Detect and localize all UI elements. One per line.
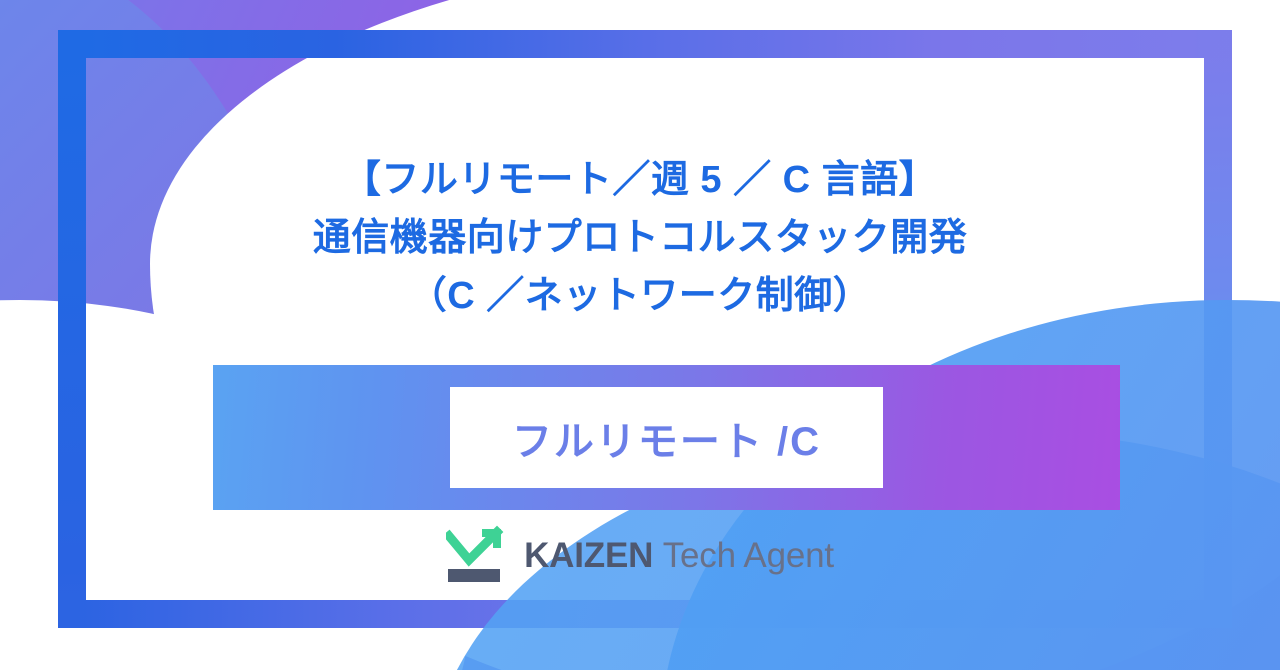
card-content: 【フルリモート／週 5 ／ C 言語】 通信機器向けプロトコルスタック開発 （C… bbox=[0, 0, 1280, 670]
brand-name-regular: Tech Agent bbox=[663, 536, 834, 575]
headline-line-3: （C ／ネットワーク制御） bbox=[313, 268, 968, 326]
brand-logo: KAIZEN Tech Agent bbox=[0, 524, 1280, 586]
brand-name-bold: KAIZEN bbox=[524, 536, 653, 575]
status-badge-label: フルリモート /C bbox=[512, 409, 821, 467]
headline-line-2: 通信機器向けプロトコルスタック開発 bbox=[313, 210, 968, 268]
status-badge: フルリモート /C bbox=[450, 387, 883, 488]
brand-wordmark: KAIZEN Tech Agent bbox=[524, 538, 834, 573]
page-title: 【フルリモート／週 5 ／ C 言語】 通信機器向けプロトコルスタック開発 （C… bbox=[313, 0, 968, 325]
badge-bar: フルリモート /C bbox=[213, 365, 1120, 510]
growth-arrow-icon bbox=[446, 524, 510, 586]
job-card-canvas: 【フルリモート／週 5 ／ C 言語】 通信機器向けプロトコルスタック開発 （C… bbox=[0, 0, 1280, 670]
headline-line-1: 【フルリモート／週 5 ／ C 言語】 bbox=[313, 152, 968, 210]
